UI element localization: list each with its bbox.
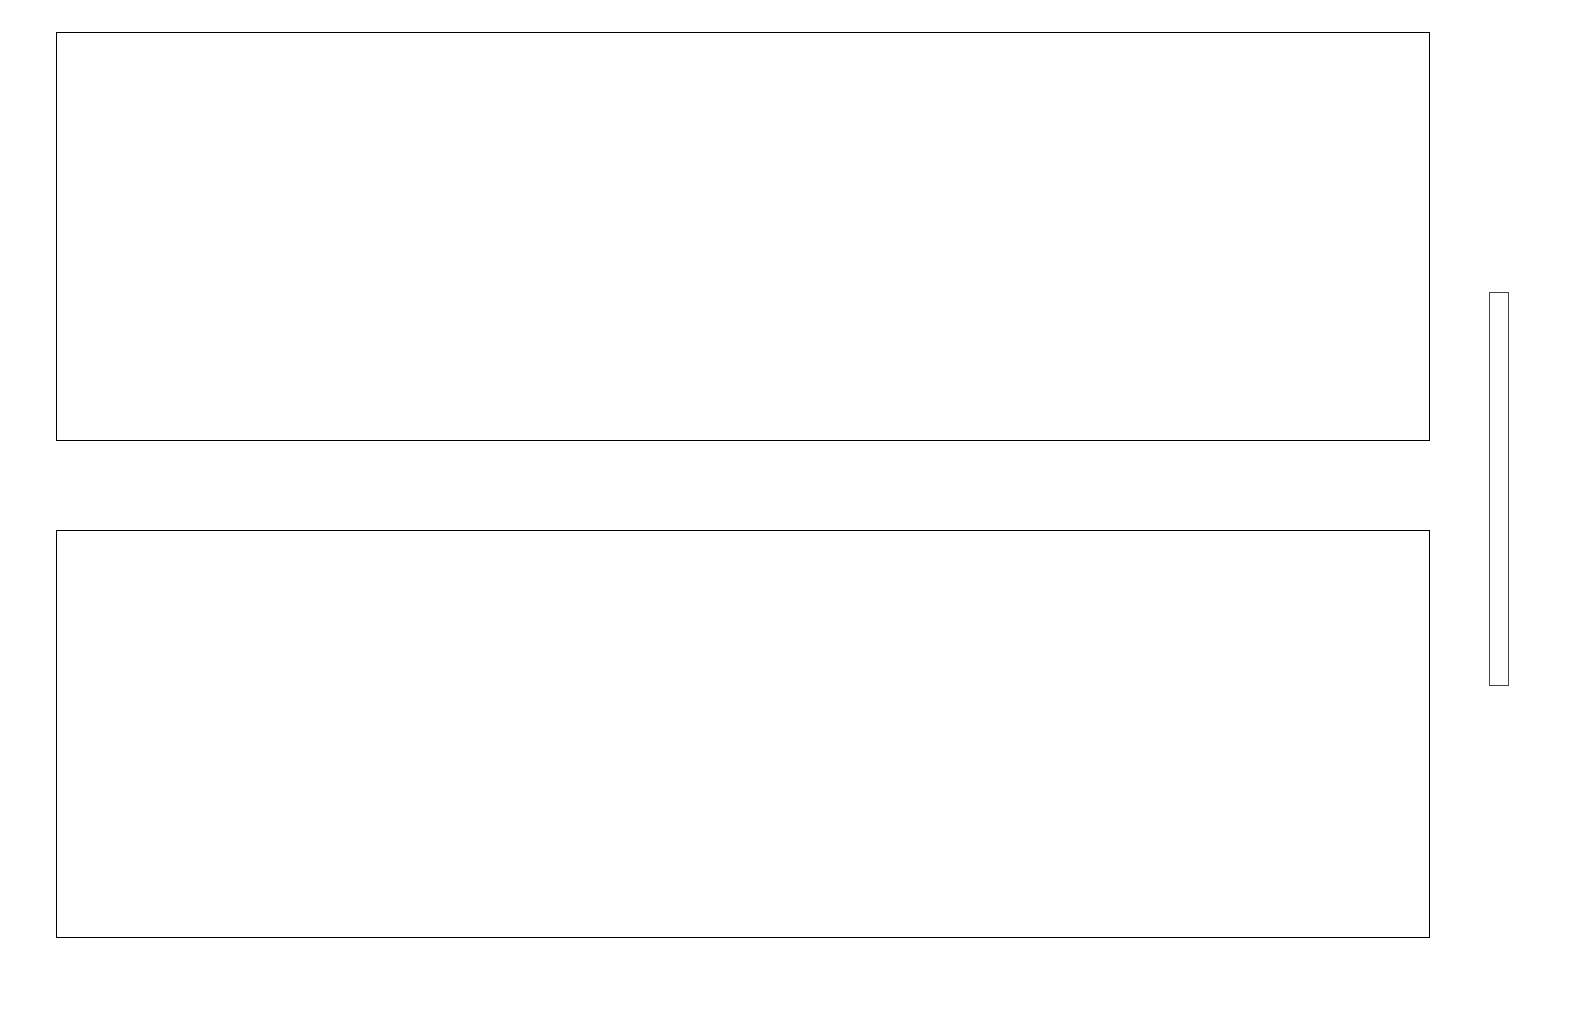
plot-area-screened — [56, 530, 1430, 938]
heatmap-raw — [57, 33, 1333, 440]
panel-screened-backscatter — [0, 498, 1595, 1020]
heatmap-screened — [57, 531, 1333, 937]
colorbar-gradient — [1489, 292, 1509, 686]
plot-area-raw — [56, 32, 1430, 441]
panel-raw-backscatter — [0, 0, 1595, 470]
